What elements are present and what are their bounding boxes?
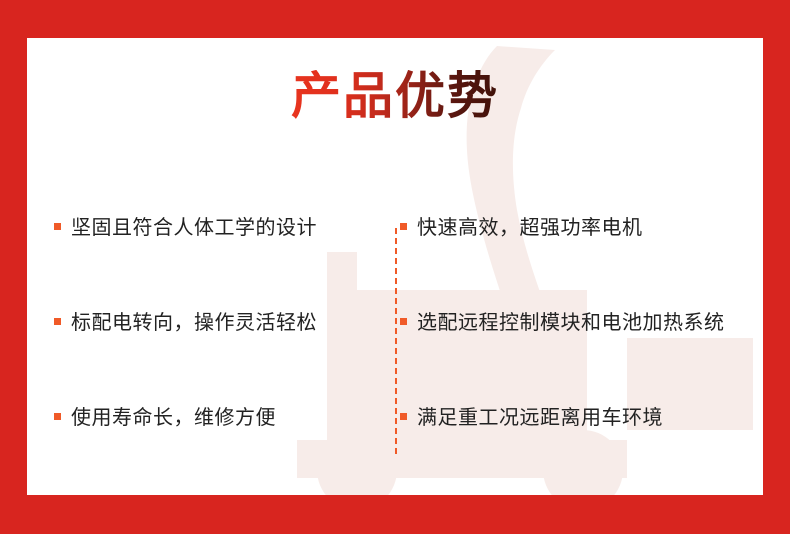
page-title-wrap: 产品优势	[27, 70, 763, 123]
feature-item: 快速高效，超强功率电机	[400, 178, 763, 273]
feature-item: 使用寿命长，维修方便	[54, 368, 368, 463]
feature-label: 满足重工况远距离用车环境	[417, 401, 663, 430]
feature-label: 快速高效，超强功率电机	[417, 211, 643, 240]
features-column-right: 快速高效，超强功率电机 选配远程控制模块和电池加热系统 满足重工况远距离用车环境	[368, 178, 763, 468]
feature-item: 标配电转向，操作灵活轻松	[54, 273, 368, 368]
square-bullet-icon	[400, 318, 407, 325]
feature-item: 满足重工况远距离用车环境	[400, 368, 763, 463]
feature-item: 选配远程控制模块和电池加热系统	[400, 273, 763, 368]
square-bullet-icon	[54, 223, 61, 230]
feature-label: 标配电转向，操作灵活轻松	[71, 306, 317, 335]
features-column-left: 坚固且符合人体工学的设计 标配电转向，操作灵活轻松 使用寿命长，维修方便	[27, 178, 368, 468]
feature-item: 坚固且符合人体工学的设计	[54, 178, 368, 273]
square-bullet-icon	[400, 223, 407, 230]
feature-label: 选配远程控制模块和电池加热系统	[417, 306, 725, 335]
poster-root: 产品优势 坚固且符合人体工学的设计 标配电转向，操作灵活轻松 使用寿命长，维修方…	[0, 0, 790, 534]
feature-label: 使用寿命长，维修方便	[71, 401, 276, 430]
content-panel: 产品优势 坚固且符合人体工学的设计 标配电转向，操作灵活轻松 使用寿命长，维修方…	[27, 38, 763, 495]
square-bullet-icon	[54, 413, 61, 420]
features-columns: 坚固且符合人体工学的设计 标配电转向，操作灵活轻松 使用寿命长，维修方便 快速高…	[27, 178, 763, 468]
square-bullet-icon	[400, 413, 407, 420]
square-bullet-icon	[54, 318, 61, 325]
page-title: 产品优势	[291, 70, 499, 123]
feature-label: 坚固且符合人体工学的设计	[71, 211, 317, 240]
